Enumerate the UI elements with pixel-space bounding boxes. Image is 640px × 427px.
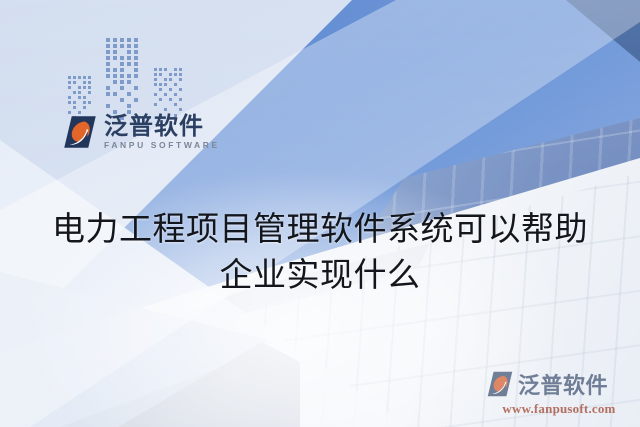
fanpu-hexagon-mark-icon	[62, 114, 98, 150]
watermark-row: 泛普软件	[486, 368, 632, 400]
pixel-skyline-icon	[62, 28, 190, 120]
fanpu-hexagon-mark-icon	[486, 370, 514, 398]
brand-name-en: FANPU SOFTWARE	[104, 141, 220, 150]
page-title: 电力工程项目管理软件系统可以帮助 企业实现什么	[0, 206, 640, 297]
brand-words: 泛普软件 FANPU SOFTWARE	[104, 114, 220, 150]
page-title-line-2: 企业实现什么	[0, 252, 640, 298]
brand-row: 泛普软件 FANPU SOFTWARE	[62, 114, 220, 150]
watermark-brand-cn: 泛普软件	[518, 368, 608, 400]
brand-logo: 泛普软件 FANPU SOFTWARE	[62, 28, 190, 158]
promo-banner: 泛普软件 FANPU SOFTWARE 电力工程项目管理软件系统可以帮助 企业实…	[0, 0, 640, 427]
watermark: 泛普软件 www.fanpusoft.com	[486, 368, 632, 417]
page-title-line-1: 电力工程项目管理软件系统可以帮助	[0, 206, 640, 252]
brand-name-cn: 泛普软件	[104, 114, 220, 138]
watermark-url: www.fanpusoft.com	[486, 401, 632, 417]
